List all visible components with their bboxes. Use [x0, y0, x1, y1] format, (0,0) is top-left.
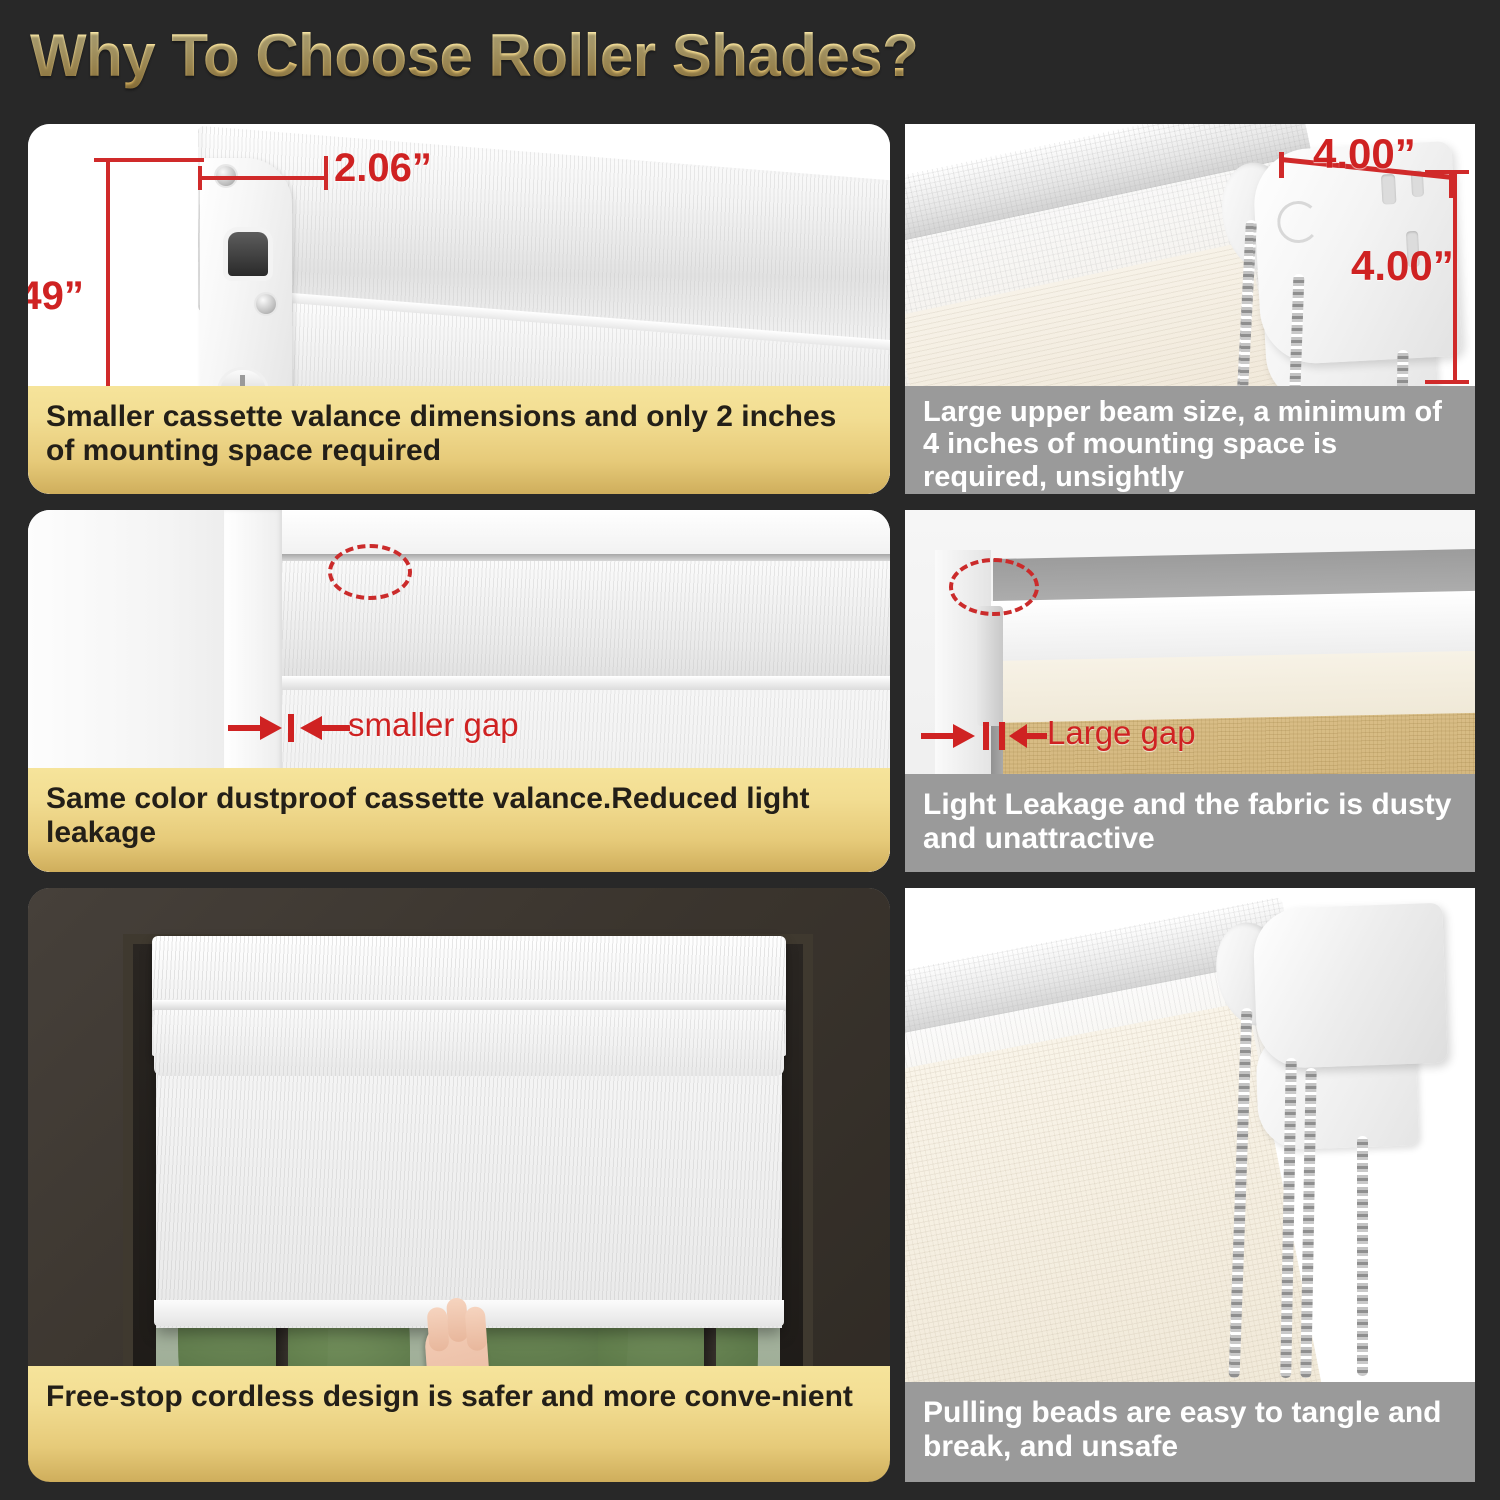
panel-bottom-left: Free-stop cordless design is safer and m… [28, 888, 890, 1482]
caption-bottom-right: Pulling beads are easy to tangle and bre… [905, 1382, 1475, 1482]
panel-top-left: 2.06” 5.49” Smaller cassette valance dim… [28, 124, 890, 494]
width-dimension-tick [1279, 152, 1284, 178]
valance-lower [154, 1010, 784, 1076]
mounting-bracket [1252, 903, 1447, 1070]
width-dimension-tick [198, 166, 202, 190]
width-dimension-label: 4.00” [1313, 130, 1416, 178]
caption-bottom-left: Free-stop cordless design is safer and m… [28, 1366, 890, 1482]
height-dimension-label: 4.00” [1351, 242, 1454, 290]
highlight-circle-icon [328, 544, 412, 600]
gap-arrow-icon [226, 708, 356, 748]
height-dimension-tick [1425, 380, 1469, 384]
gap-arrow-icon [919, 716, 1049, 756]
gap-label: smaller gap [348, 706, 519, 744]
bracket-hinge [977, 606, 1003, 726]
height-dimension-tick [1425, 170, 1469, 174]
shade-divider-rail [276, 676, 890, 690]
bead-chain [1357, 1136, 1368, 1376]
caption-top-right: Large upper beam size, a minimum of 4 in… [905, 386, 1475, 494]
width-dimension-label: 2.06” [334, 146, 432, 191]
endcap-slot [228, 232, 268, 276]
page-title: Why To Choose Roller Shades? [30, 21, 918, 90]
caption-middle-left: Same color dustproof cassette valance.Re… [28, 768, 890, 872]
height-dimension-label: 5.49” [28, 274, 84, 319]
width-dimension-tick [324, 156, 328, 190]
comparison-grid: 2.06” 5.49” Smaller cassette valance dim… [0, 110, 1500, 1500]
panel-bottom-right: Pulling beads are easy to tangle and bre… [905, 888, 1475, 1482]
panel-middle-right: Large gap Light Leakage and the fabric i… [905, 510, 1475, 872]
page-header: Why To Choose Roller Shades? [0, 0, 1500, 110]
panel-top-right: 4.00” 4.00” Large upper beam size, a min… [905, 124, 1475, 494]
caption-middle-right: Light Leakage and the fabric is dusty an… [905, 774, 1475, 872]
height-dimension-tick [94, 158, 204, 162]
highlight-circle-icon [949, 558, 1039, 616]
screw-icon [256, 294, 276, 314]
gap-label: Large gap [1047, 714, 1196, 752]
caption-top-left: Smaller cassette valance dimensions and … [28, 386, 890, 494]
panel-middle-left: smaller gap Same color dustproof cassett… [28, 510, 890, 872]
width-dimension-line [200, 176, 328, 180]
